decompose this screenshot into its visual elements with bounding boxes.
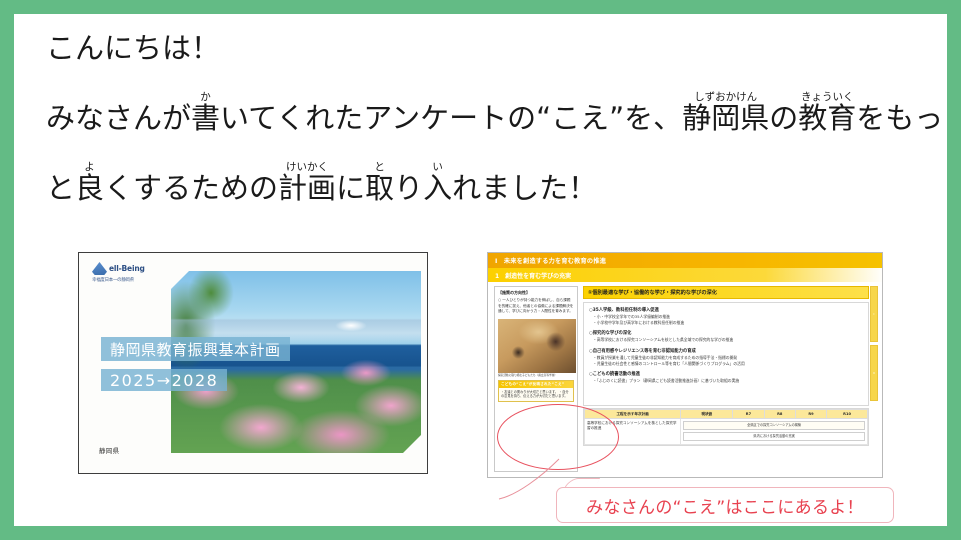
ruby-shizuoka-base: 静岡県: [682, 101, 769, 135]
headline-l2-seg2: いてくれたアンケートの“こえ”を、: [220, 101, 682, 135]
schedule-column-header: R10: [827, 410, 868, 419]
classroom-photo: [498, 319, 576, 373]
photo-caption: 探究活動に取り組む子どもたち（県立高等学校）: [498, 374, 574, 378]
plan-cover-image[interactable]: ell-Being 幸福度日本一の静岡県 静岡県教育振興基本計画 2025→20…: [78, 252, 428, 474]
schedule-bars-cell: 全県区での探究コンソーシアムの構築県内における探究活動の充実: [681, 419, 868, 445]
ruby-kyoiku-base: 教育: [798, 101, 856, 135]
kodomo-voice-heading: こどもの“こえ”が反映された“こえ”: [499, 381, 573, 388]
schedule-table-grid: 工程を示す年次計画現状値R7R8R9R10 高等学校における探究コンソーシアムを…: [584, 409, 868, 445]
doc-section-bar: 1 創造性を育む学びの充実: [488, 268, 883, 282]
doc-side-tab[interactable]: Ⅰ: [870, 286, 878, 342]
schedule-column-header: R7: [733, 410, 764, 419]
ruby-shizuoka-rt: しずおかけん: [682, 91, 769, 103]
mountain-icon: [92, 262, 107, 275]
schedule-bar: 全県区での探究コンソーシアムの構築: [683, 421, 865, 430]
policy-block-heading: ○自己有用感やレジリエンス等を育む非認知能力の育成: [589, 348, 863, 354]
ruby-i: 入い: [423, 171, 452, 205]
schedule-column-header: 現状値: [681, 410, 733, 419]
ruby-keikaku: 計画けいかく: [278, 171, 336, 205]
slide-border-bottom: [0, 526, 961, 540]
ruby-kaku: 書か: [191, 101, 220, 135]
headline-l3-seg4: り: [394, 171, 423, 205]
ruby-yo-base: 良: [75, 171, 104, 205]
headline-l2-seg4: をもっ: [856, 101, 943, 135]
policy-direction-body: ○ 一人ひとりが持つ能力を伸ばし、自ら課題を的確に捉え、他者との協働による課題解…: [498, 298, 574, 315]
cover-issuer: 静岡県: [99, 445, 119, 455]
headline-block: こんにちは！ みなさんが書かいてくれたアンケートの“こえ”を、静岡県しずおかけん…: [46, 34, 926, 203]
doc-main-column: ①個別最適な学び・協働的な学び・探究的な学びの深化 ○35人学級、教科担任制の導…: [583, 286, 869, 472]
policy-block: ○こどもの読書活動の推進・「ふじのくに読書」プラン（静岡県こども読書活動推進計画…: [589, 371, 863, 384]
kodomo-voice-box: こどもの“こえ”が反映された“こえ” ・友達との関わりが大切だと思います。 ・自…: [498, 380, 574, 402]
policy-block-heading: ○こどもの読書活動の推進: [589, 371, 863, 377]
schedule-table: 工程を示す年次計画現状値R7R8R9R10 高等学校における探究コンソーシアムを…: [583, 408, 869, 446]
main-section-body: ○35人学級、教科担任制の導入促進・小・中学校全学年での35人学級編制の推進・小…: [583, 302, 869, 406]
cover-photo-fuji-azalea: [171, 271, 421, 453]
ruby-to: 取と: [365, 171, 394, 205]
ruby-shizuoka: 静岡県しずおかけん: [682, 101, 769, 135]
headline-line-2: みなさんが書かいてくれたアンケートの“こえ”を、静岡県しずおかけんの教育きょうい…: [46, 91, 926, 133]
logo-subtitle: 幸福度日本一の静岡県: [92, 277, 176, 283]
headline-l3-seg2: くするための: [104, 171, 278, 205]
policy-block-item: ・児童生徒の社会性と感情のコントロール等を育む「人間関係づくりプログラム」の活用: [589, 361, 863, 367]
cover-title: 静岡県教育振興基本計画: [101, 337, 290, 361]
policy-block-heading: ○35人学級、教科担任制の導入促進: [589, 307, 863, 313]
well-being-logo: ell-Being 幸福度日本一の静岡県: [92, 262, 176, 283]
headline-line-3: と良よくするための計画けいかくに取とり入いれました！: [46, 161, 926, 203]
main-section-heading: ①個別最適な学び・協働的な学び・探究的な学びの深化: [583, 286, 869, 299]
ruby-keikaku-base: 計画: [278, 171, 336, 205]
headline-l3-seg1: と: [46, 171, 75, 205]
policy-block: ○自己有用感やレジリエンス等を育む非認知能力の育成・教員が授業を通して児童生徒の…: [589, 348, 863, 367]
cover-years: 2025→2028: [101, 369, 227, 391]
policy-direction-heading: 【施策の方向性】: [498, 290, 574, 296]
ruby-yo-rt: よ: [75, 161, 104, 173]
slide-border-left: [0, 0, 14, 540]
ruby-i-base: 入: [423, 171, 452, 205]
policy-block: ○探究的な学びの深化・高等学校における探究コンソーシアムを核とした県全域での探究…: [589, 330, 863, 343]
ruby-keikaku-rt: けいかく: [278, 161, 336, 173]
kodomo-voice-body: ・友達との関わりが大切だと思います。 ・自分の意見を持ち、伝える力が大切だと思い…: [499, 388, 573, 401]
schedule-header-row: 工程を示す年次計画現状値R7R8R9R10: [585, 410, 868, 419]
plan-document-page[interactable]: Ⅰ 未来を創造する力を育む教育の推進 1 創造性を育む学びの充実 【施策の方向性…: [487, 252, 883, 478]
ruby-kyoiku-rt: きょういく: [798, 91, 856, 103]
policy-block: ○35人学級、教科担任制の導入促進・小・中学校全学年での35人学級編制の推進・小…: [589, 307, 863, 326]
policy-block-item: ・「ふじのくに読書」プラン（静岡県こども読書活動推進計画）に基づいた取組の実施: [589, 378, 863, 384]
schedule-column-header: 工程を示す年次計画: [585, 410, 681, 419]
headline-l2-seg1: みなさんが: [46, 101, 191, 135]
ruby-to-rt: と: [365, 161, 394, 173]
logo-text: ell-Being: [109, 264, 145, 273]
schedule-row-label: 高等学校における探究コンソーシアムを核とした探究学習の推進: [585, 419, 681, 445]
doc-side-tabs: ⅠⅡ: [870, 286, 878, 472]
headline-line-1: こんにちは！: [46, 34, 926, 63]
slide-canvas: こんにちは！ みなさんが書かいてくれたアンケートの“こえ”を、静岡県しずおかけん…: [0, 0, 961, 540]
schedule-bar: 県内における探究活動の充実: [683, 432, 865, 441]
logo-row: ell-Being: [92, 262, 176, 275]
ruby-yo: 良よ: [75, 171, 104, 205]
schedule-column-header: R9: [795, 410, 826, 419]
policy-block-heading: ○探究的な学びの深化: [589, 330, 863, 336]
table-row: 高等学校における探究コンソーシアムを核とした探究学習の推進 全県区での探究コンソ…: [585, 419, 868, 445]
doc-left-column: 【施策の方向性】 ○ 一人ひとりが持つ能力を伸ばし、自ら課題を的確に捉え、他者と…: [494, 286, 578, 472]
headline-l3-seg5: れました！: [452, 171, 597, 205]
ruby-kyoiku: 教育きょういく: [798, 101, 856, 135]
headline-l2-seg3: の: [769, 101, 798, 135]
schedule-table-body: 高等学校における探究コンソーシアムを核とした探究学習の推進 全県区での探究コンソ…: [585, 419, 868, 445]
ruby-to-base: 取: [365, 171, 394, 205]
callout-bubble[interactable]: みなさんの“こえ”はここにあるよ！: [556, 487, 894, 523]
ruby-i-rt: い: [423, 161, 452, 173]
schedule-table-head: 工程を示す年次計画現状値R7R8R9R10: [585, 410, 868, 419]
doc-side-tab[interactable]: Ⅱ: [870, 345, 878, 401]
ruby-kaku-rt: か: [191, 91, 220, 103]
slide-border-top: [0, 0, 961, 14]
policy-block-item: ・小学校中学年及び高学年における教科担任制の推進: [589, 320, 863, 326]
slide-border-right: [947, 0, 961, 540]
ruby-kaku-base: 書: [191, 101, 220, 135]
doc-chapter-bar: Ⅰ 未来を創造する力を育む教育の推進: [488, 253, 883, 268]
policy-block-item: ・高等学校における探究コンソーシアムを核とした県全域での探究的な学びの推進: [589, 337, 863, 343]
headline-l3-seg3: に: [336, 171, 365, 205]
schedule-column-header: R8: [764, 410, 795, 419]
